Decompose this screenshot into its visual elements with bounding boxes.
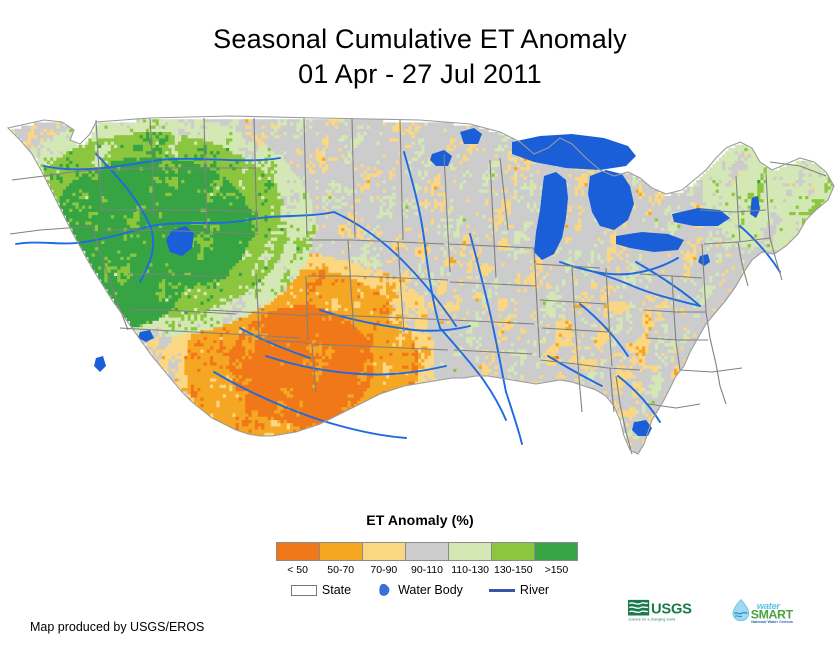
map-canvas	[0, 114, 840, 499]
legend-label-river: River	[520, 583, 549, 597]
title-line-2: 01 Apr - 27 Jul 2011	[0, 57, 840, 92]
colorbar-label-4: 110-130	[449, 564, 492, 576]
legend-item-river: River	[489, 583, 549, 597]
colorbar-swatch-5	[492, 543, 535, 560]
water-drop-icon	[733, 599, 749, 620]
colorbar-swatch-0	[277, 543, 320, 560]
colorbar-swatch-1	[320, 543, 363, 560]
colorbar-wrap: < 5050-7070-9090-110110-130130-150>150	[276, 542, 578, 576]
agency-logos: USGS science for a changing world water …	[628, 598, 832, 624]
water-body-icon	[377, 582, 393, 598]
watersmart-word-smart: SMART	[751, 607, 794, 621]
feature-legend: State Water Body River	[0, 582, 840, 598]
colorbar-swatch-3	[406, 543, 449, 560]
colorbar	[276, 542, 578, 561]
colorbar-label-2: 70-90	[362, 564, 405, 576]
et-anomaly-map	[0, 114, 840, 499]
colorbar-label-1: 50-70	[319, 564, 362, 576]
river-line-icon	[489, 589, 515, 592]
watersmart-logo: water SMART National Water Census	[728, 598, 832, 624]
usgs-wordmark: USGS	[651, 602, 692, 618]
legend-label-water-body: Water Body	[398, 583, 463, 597]
title-line-1: Seasonal Cumulative ET Anomaly	[0, 22, 840, 57]
colorbar-swatch-2	[363, 543, 406, 560]
legend-item-state: State	[291, 583, 351, 597]
usgs-logo: USGS science for a changing world	[628, 598, 720, 622]
colorbar-label-3: 90-110	[405, 564, 448, 576]
colorbar-swatch-4	[449, 543, 492, 560]
colorbar-labels: < 5050-7070-9090-110110-130130-150>150	[276, 564, 578, 576]
map-legend: ET Anomaly (%) < 5050-7070-9090-110110-1…	[0, 512, 840, 528]
watersmart-subtitle: National Water Census	[751, 620, 793, 624]
colorbar-swatch-6	[535, 543, 577, 560]
legend-title: ET Anomaly (%)	[0, 512, 840, 528]
colorbar-label-6: >150	[535, 564, 578, 576]
colorbar-label-0: < 50	[276, 564, 319, 576]
map-credit: Map produced by USGS/EROS	[30, 620, 204, 634]
page-title: Seasonal Cumulative ET Anomaly 01 Apr - …	[0, 22, 840, 91]
legend-item-water-body: Water Body	[377, 582, 463, 598]
usgs-tagline: science for a changing world	[628, 618, 675, 622]
colorbar-label-5: 130-150	[492, 564, 535, 576]
legend-label-state: State	[322, 583, 351, 597]
state-swatch-icon	[291, 585, 317, 596]
